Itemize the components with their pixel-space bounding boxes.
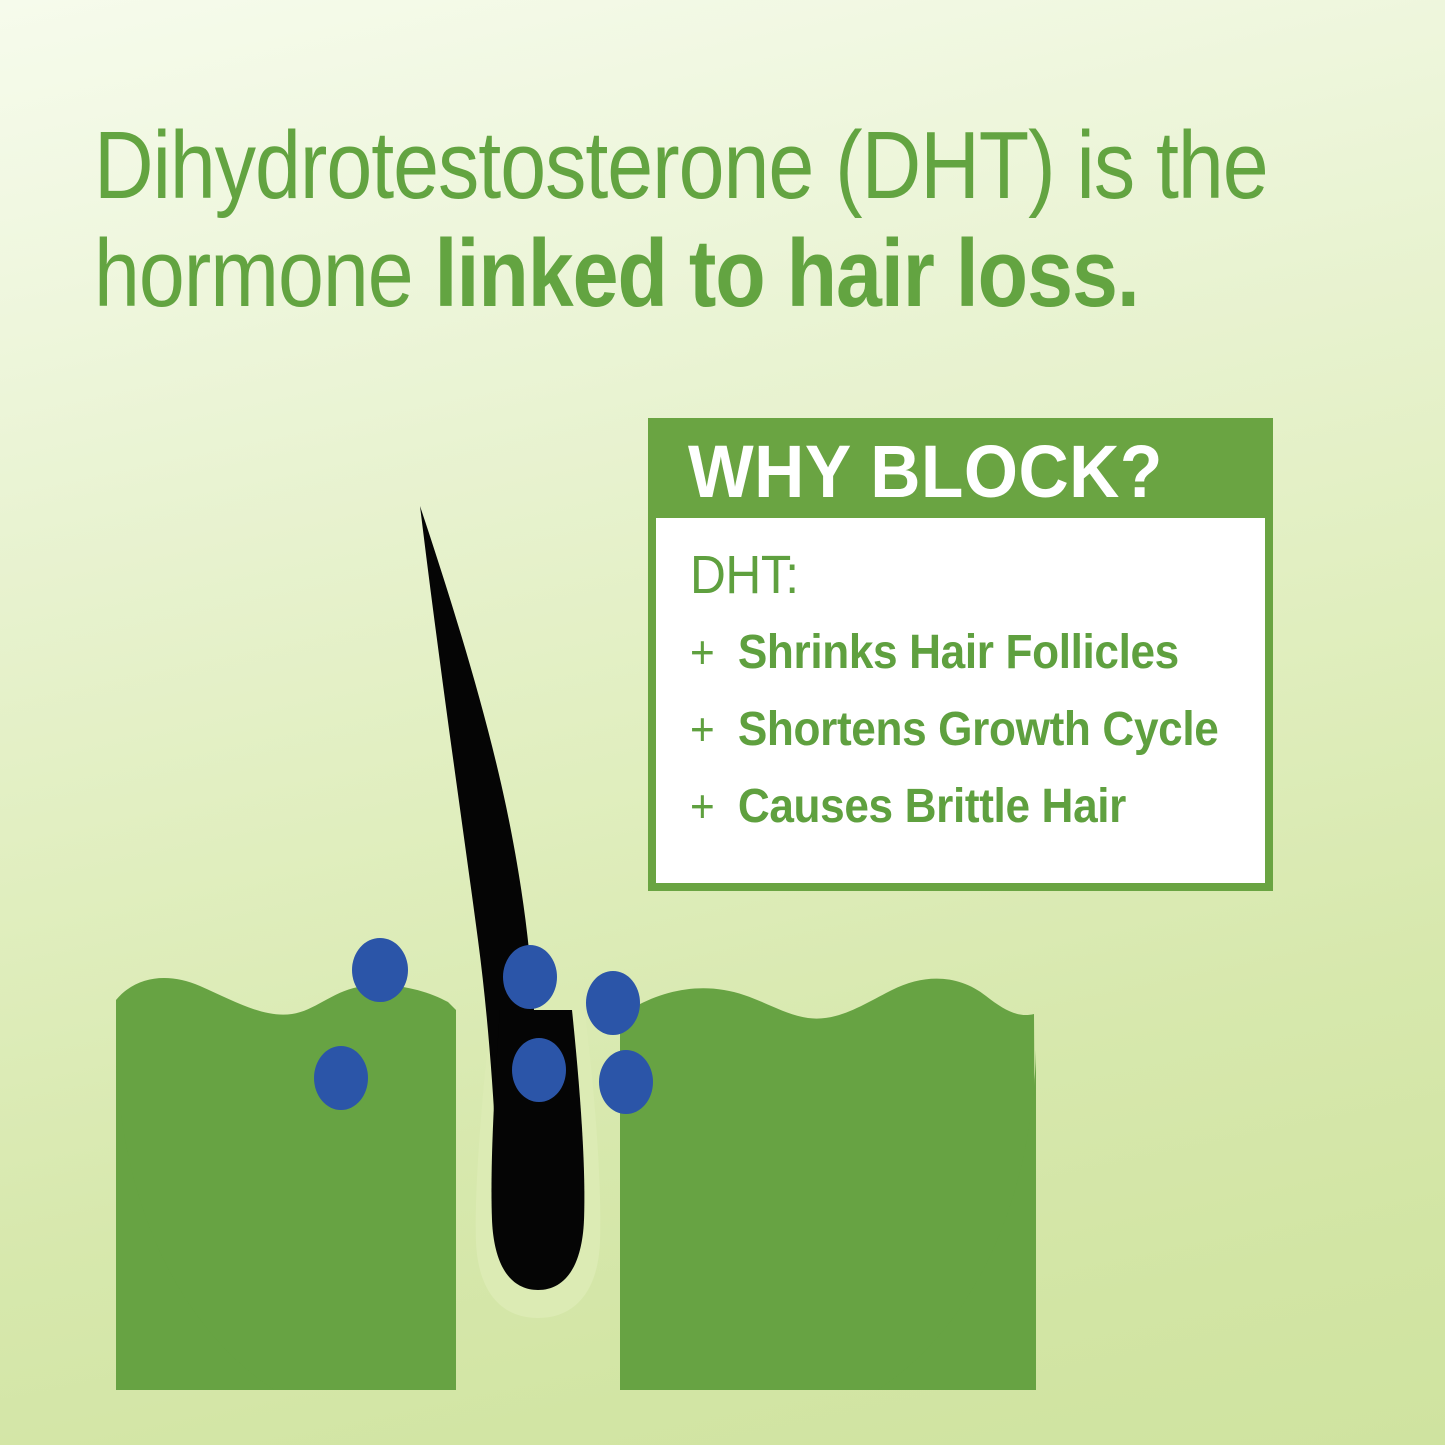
- dht-molecule-icon: [503, 945, 557, 1009]
- dht-molecule-icon: [586, 971, 640, 1035]
- page-title: Dihydrotestosterone (DHT) is the hormone…: [94, 112, 1364, 328]
- dht-molecule-icon: [314, 1046, 368, 1110]
- dht-molecule-icon: [352, 938, 408, 1002]
- headline-line-1-text: Dihydrotestosterone (DHT) is the: [94, 112, 1268, 219]
- headline-line-2-light-text: hormone: [94, 220, 435, 327]
- headline-line-2: hormone linked to hair loss.: [94, 220, 1186, 328]
- hair-follicle-illustration: [96, 490, 1056, 1390]
- infographic-canvas: Dihydrotestosterone (DHT) is the hormone…: [0, 0, 1445, 1445]
- hair-follicle-svg: [96, 490, 1056, 1390]
- headline-line-2-strong-text: linked to hair loss.: [435, 220, 1139, 327]
- dht-molecule-icon: [512, 1038, 566, 1102]
- dht-molecule-icon: [599, 1050, 653, 1114]
- headline-line-1: Dihydrotestosterone (DHT) is the: [94, 112, 1186, 220]
